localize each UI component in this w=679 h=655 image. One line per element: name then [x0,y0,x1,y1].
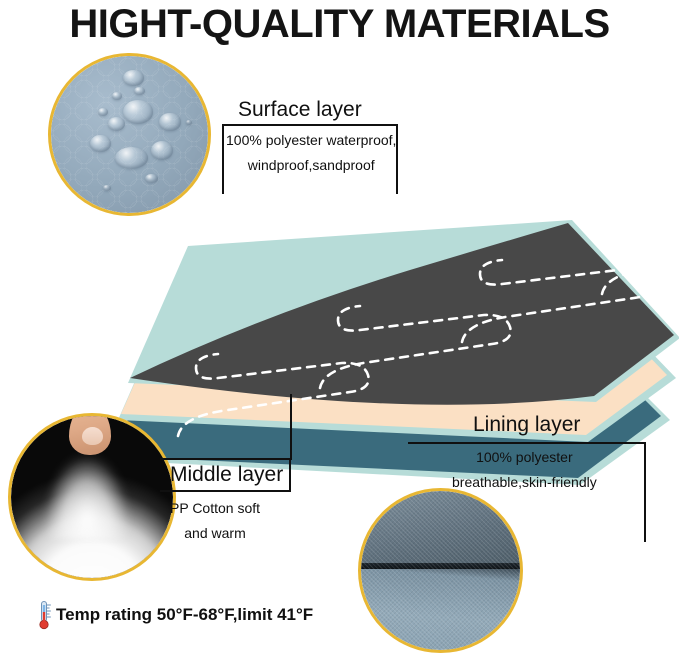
middle-callout-body: PP Cotton soft and warm [170,496,260,545]
water-beading-photo [48,53,211,216]
middle-callout-leader-line [290,394,292,460]
water-beading-photo-inner [51,56,208,213]
middle-callout-line-1: PP Cotton soft [170,496,260,521]
water-droplet [90,135,110,152]
water-droplet [103,185,111,191]
water-droplet [151,141,173,160]
cotton-fiber-strand [37,439,137,539]
lining-callout-body: 100% polyester breathable,skin-friendly [452,445,597,494]
surface-callout-line-2: windproof,sandproof [226,153,396,178]
lining-callout-line-1: 100% polyester [452,445,597,470]
surface-callout-body: 100% polyester waterproof, windproof,san… [226,128,396,177]
water-droplet [112,92,121,100]
surface-callout-title: Surface layer [238,98,362,122]
middle-callout-title: Middle layer [170,463,283,487]
water-droplet [145,174,158,183]
page-title: HIGHT-QUALITY MATERIALS [0,2,679,47]
temp-rating-row: Temp rating 50°F-68°F,limit 41°F [36,600,313,630]
lining-callout-line-2: breathable,skin-friendly [452,470,597,495]
surface-callout-line-1: 100% polyester waterproof, [226,128,396,153]
infographic-canvas: HIGHT-QUALITY MATERIALS [0,0,679,655]
water-droplet [123,70,143,86]
thermometer-icon [36,600,54,630]
pp-cotton-photo [8,413,176,581]
middle-callout-line-2: and warm [170,521,260,546]
lining-callout-title: Lining layer [473,413,580,437]
water-droplet [123,100,153,124]
pp-cotton-photo-inner [11,416,173,578]
temp-rating-text: Temp rating 50°F-68°F,limit 41°F [56,605,313,625]
water-droplet [98,108,107,116]
